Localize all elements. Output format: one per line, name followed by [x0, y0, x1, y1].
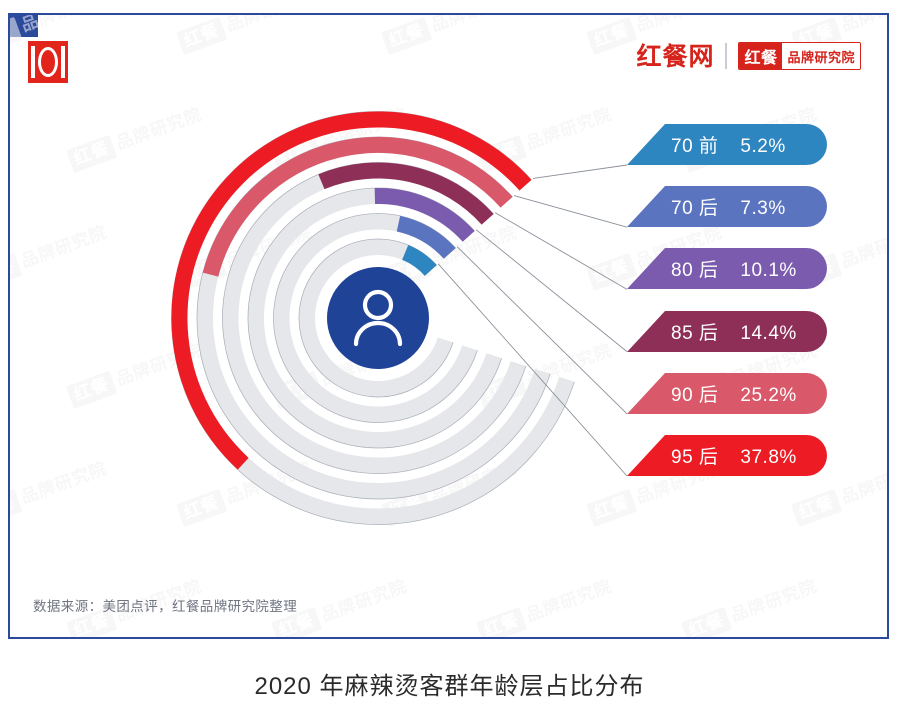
pill-value: 25.2% [740, 385, 796, 407]
brand-divider [725, 43, 727, 69]
brand-badge-white: 品牌研究院 [782, 43, 860, 69]
page-title: 2020 年麻辣烫客群年龄层占比分布 [0, 666, 899, 701]
label-pill-70后[interactable]: 70 后7.3% [627, 186, 827, 227]
hongcan-logo-icon [28, 41, 68, 83]
pill-cohort: 70 后 [671, 193, 718, 220]
brand-badge: 红餐 品牌研究院 [738, 42, 861, 70]
label-pill-80后[interactable]: 80 后10.1% [627, 248, 827, 289]
infographic-card: 红餐品牌研究院红餐品牌研究院红餐品牌研究院红餐品牌研究院红餐品牌研究院红餐品牌研… [8, 13, 889, 639]
source-note: 数据来源：美团点评，红餐品牌研究院整理 [33, 595, 297, 615]
pill-cohort: 80 后 [671, 255, 718, 282]
label-pill-90后[interactable]: 90 后25.2% [627, 373, 827, 414]
pill-value: 37.8% [740, 447, 796, 469]
label-pill-70前[interactable]: 70 前5.2% [627, 124, 827, 165]
pill-cohort: 95 后 [671, 442, 718, 469]
connector-line [476, 230, 627, 352]
label-pill-85后[interactable]: 85 后14.4% [627, 311, 827, 352]
pill-value: 7.3% [740, 198, 785, 220]
poster-root: 红餐品牌研究院红餐品牌研究院红餐品牌研究院红餐品牌研究院红餐品牌研究院红餐品牌研… [0, 0, 899, 718]
brand-badge-red: 红餐 [739, 43, 782, 69]
pill-value: 10.1% [740, 260, 796, 282]
logo-bar-right [61, 46, 65, 78]
logo-oval [38, 47, 58, 77]
pill-value: 5.2% [740, 136, 785, 158]
center-node [327, 267, 429, 369]
brand-bar: 红餐网 红餐 品牌研究院 [636, 42, 861, 70]
label-pill-95后[interactable]: 95 后37.8% [627, 435, 827, 476]
pill-value: 14.4% [740, 323, 796, 345]
pill-cohort: 90 后 [671, 380, 718, 407]
brand-name: 红餐网 [636, 44, 714, 69]
arc-value-70前[interactable]: 70 前 5.2% [405, 252, 431, 270]
pill-cohort: 70 前 [671, 131, 718, 158]
connector-line [533, 165, 627, 178]
logo-bar-left [31, 46, 35, 78]
connector-line [514, 196, 627, 228]
pill-cohort: 85 后 [671, 318, 718, 345]
connector-line [495, 213, 627, 290]
